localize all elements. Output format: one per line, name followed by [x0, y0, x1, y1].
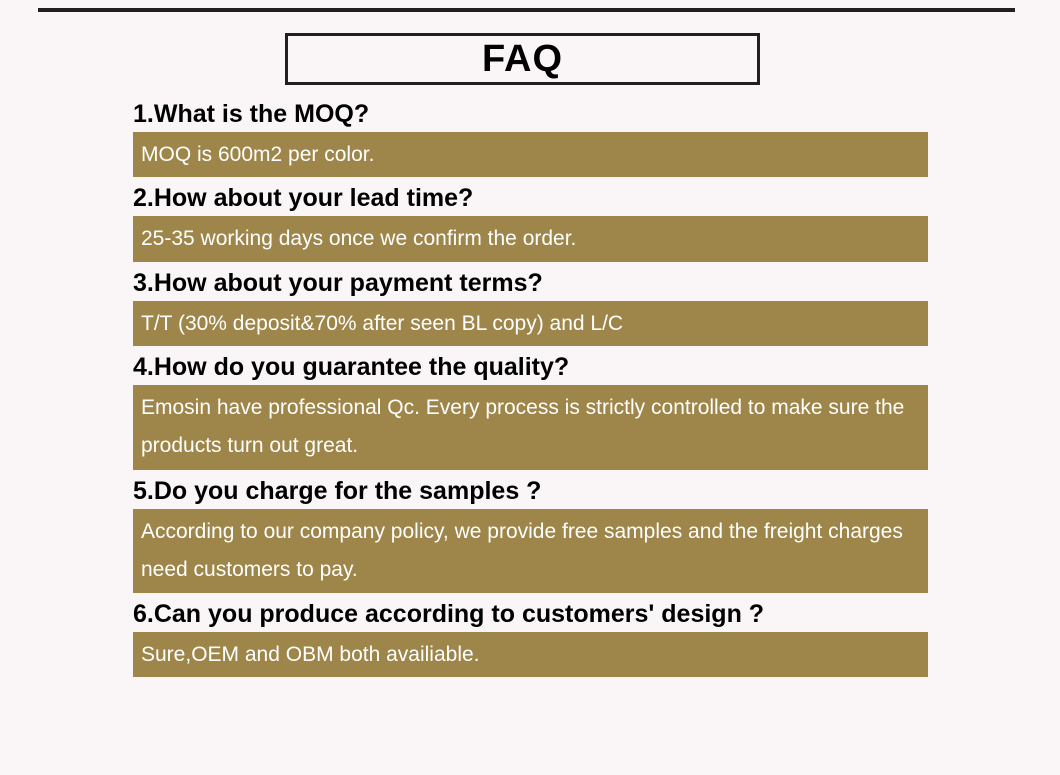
page-title: FAQ	[482, 40, 563, 78]
faq-answer-2: 25-35 working days once we confirm the o…	[133, 216, 928, 261]
faq-item-3: 3.How about your payment terms? T/T (30%…	[133, 268, 928, 346]
faq-item-1: 1.What is the MOQ? MOQ is 600m2 per colo…	[133, 99, 928, 177]
faq-answer-5: According to our company policy, we prov…	[133, 509, 928, 593]
faq-item-2: 2.How about your lead time? 25-35 workin…	[133, 183, 928, 261]
faq-question-4: 4.How do you guarantee the quality?	[133, 352, 928, 385]
faq-question-6: 6.Can you produce according to customers…	[133, 599, 928, 632]
faq-answer-4: Emosin have professional Qc. Every proce…	[133, 385, 928, 469]
faq-question-2: 2.How about your lead time?	[133, 183, 928, 216]
faq-question-1: 1.What is the MOQ?	[133, 99, 928, 132]
faq-question-3: 3.How about your payment terms?	[133, 268, 928, 301]
top-divider-rule	[38, 8, 1015, 12]
faq-answer-6: Sure,OEM and OBM both availiable.	[133, 632, 928, 677]
faq-answer-1: MOQ is 600m2 per color.	[133, 132, 928, 177]
faq-title-box: FAQ	[285, 33, 760, 85]
faq-item-4: 4.How do you guarantee the quality? Emos…	[133, 352, 928, 469]
faq-item-5: 5.Do you charge for the samples ? Accord…	[133, 476, 928, 593]
faq-list: 1.What is the MOQ? MOQ is 600m2 per colo…	[133, 99, 928, 683]
faq-question-5: 5.Do you charge for the samples ?	[133, 476, 928, 509]
faq-answer-3: T/T (30% deposit&70% after seen BL copy)…	[133, 301, 928, 346]
faq-item-6: 6.Can you produce according to customers…	[133, 599, 928, 677]
faq-page: FAQ 1.What is the MOQ? MOQ is 600m2 per …	[0, 0, 1060, 775]
